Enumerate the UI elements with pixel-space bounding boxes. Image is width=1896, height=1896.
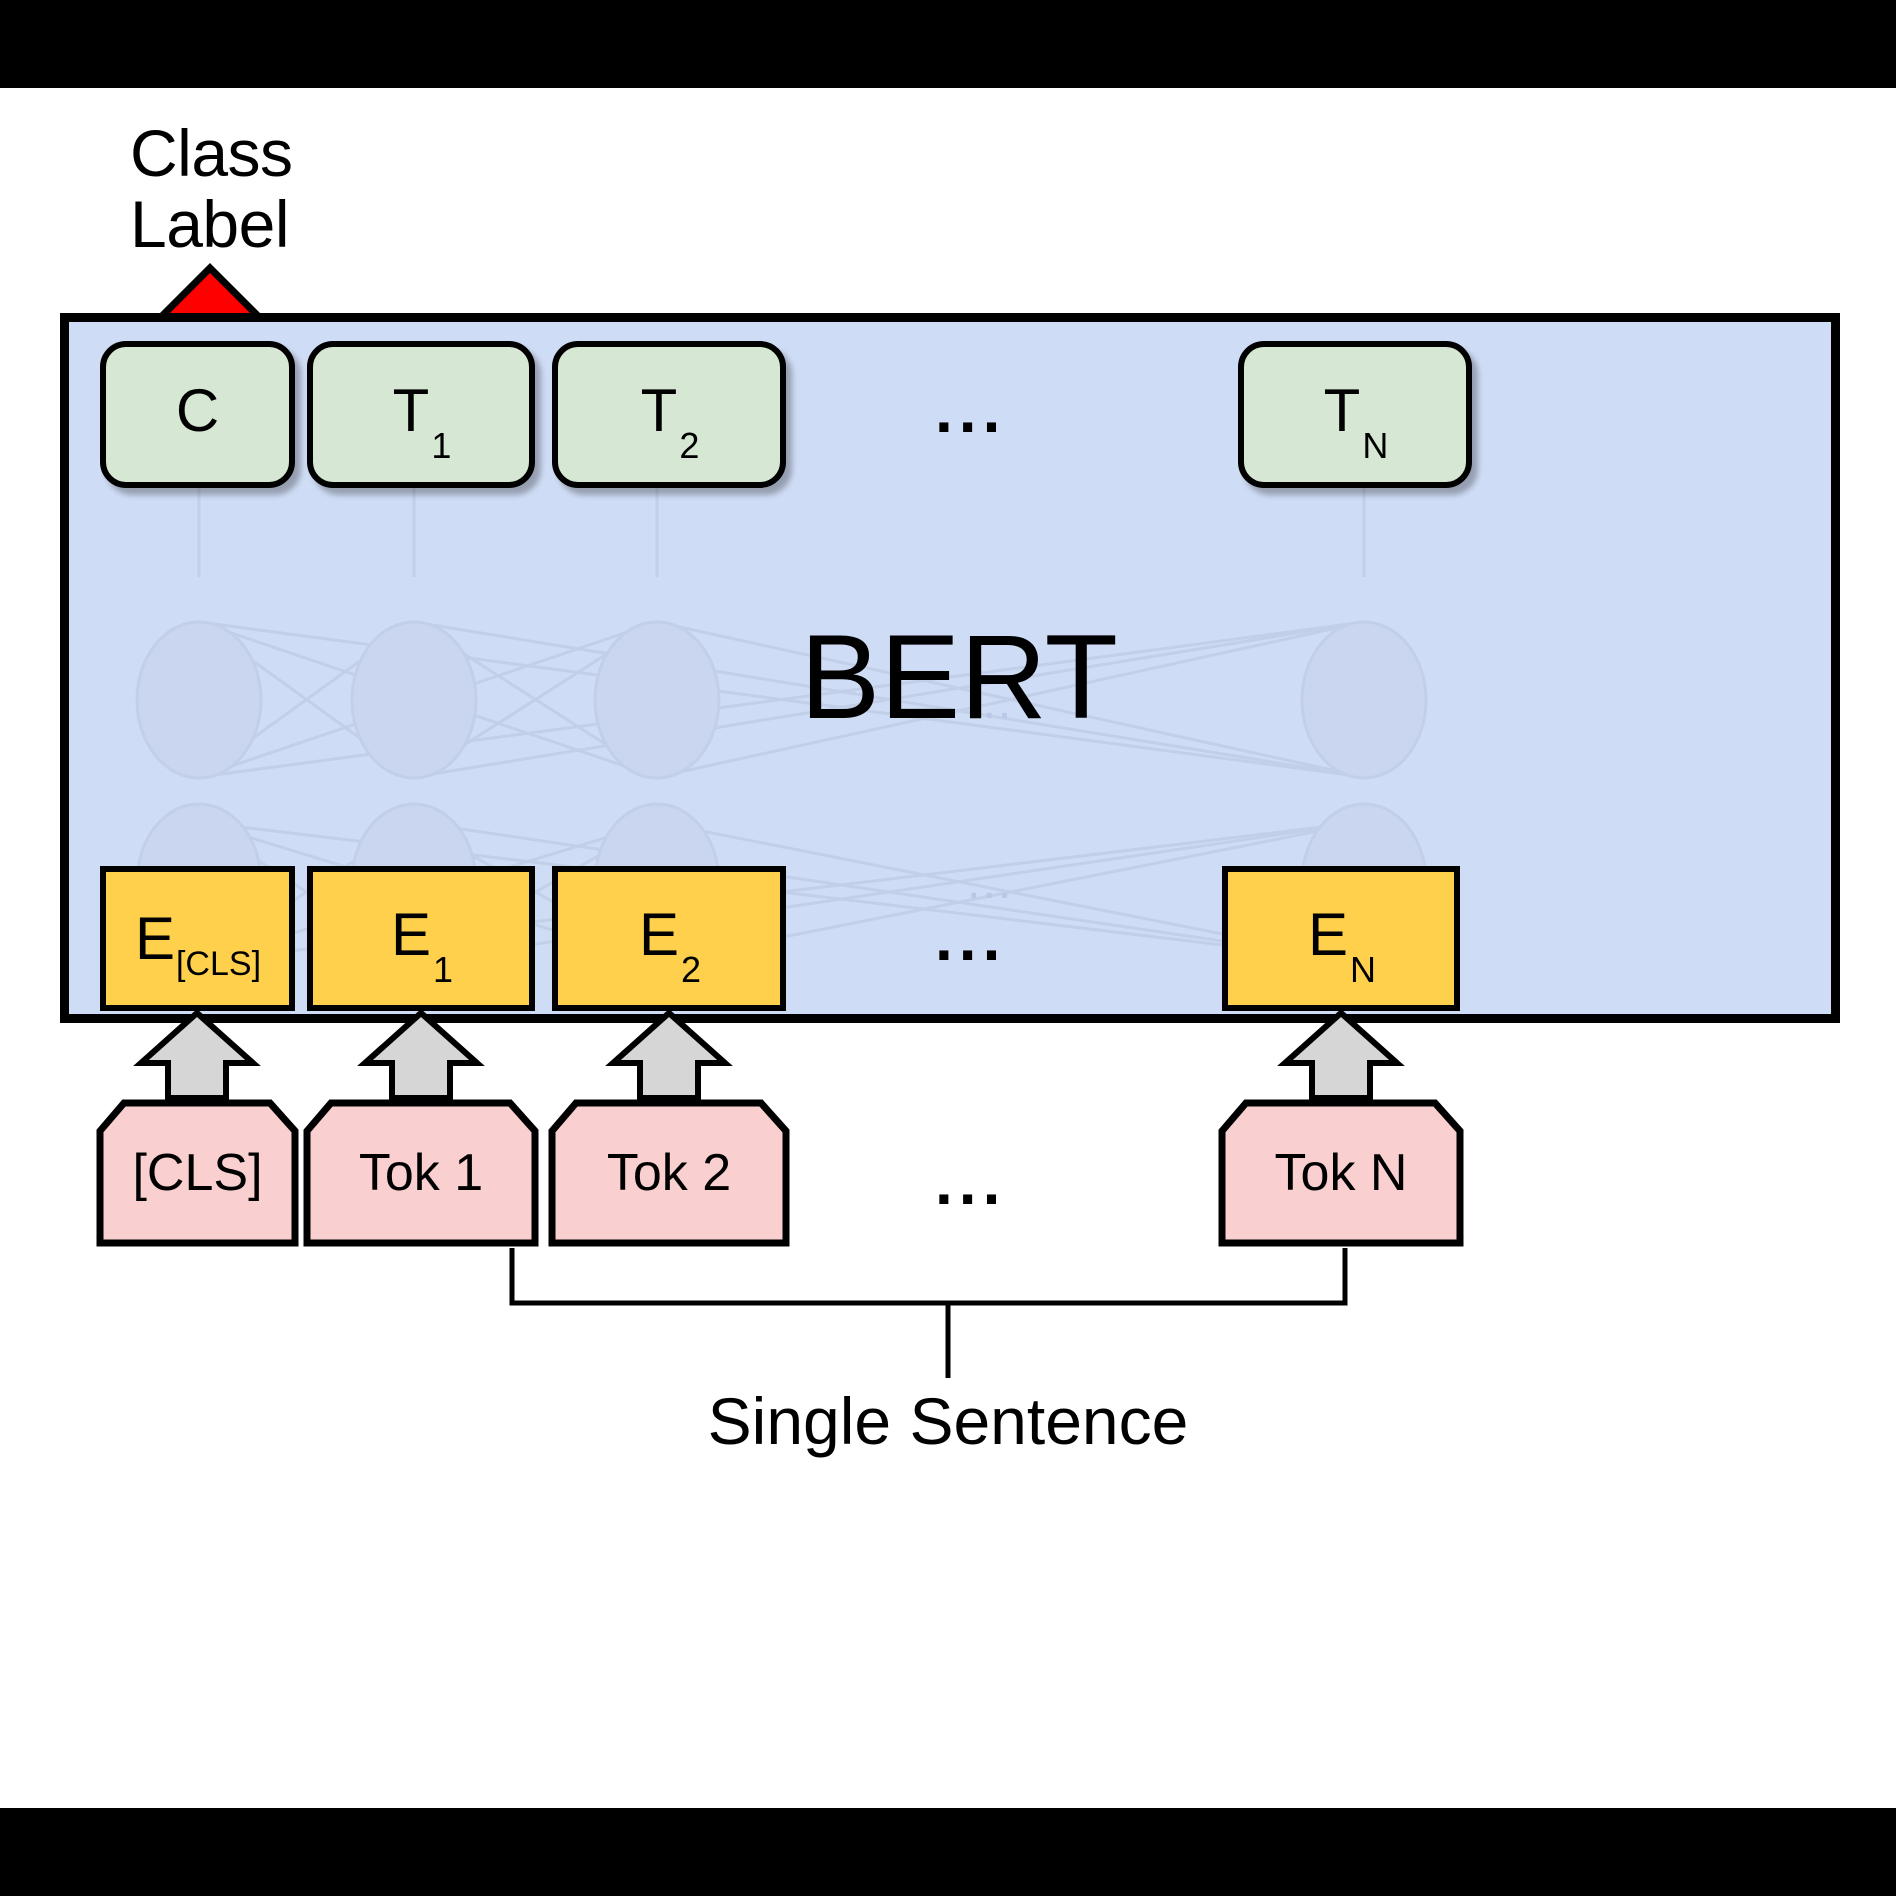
sentence-bracket bbox=[0, 88, 1896, 1808]
diagram-canvas: Class Label bbox=[0, 88, 1896, 1808]
screenshot-stage: Class Label bbox=[0, 0, 1896, 1896]
letterbox-bottom-bar bbox=[0, 1808, 1896, 1896]
single-sentence-label: Single Sentence bbox=[0, 1383, 1896, 1459]
letterbox-top-bar bbox=[0, 0, 1896, 88]
